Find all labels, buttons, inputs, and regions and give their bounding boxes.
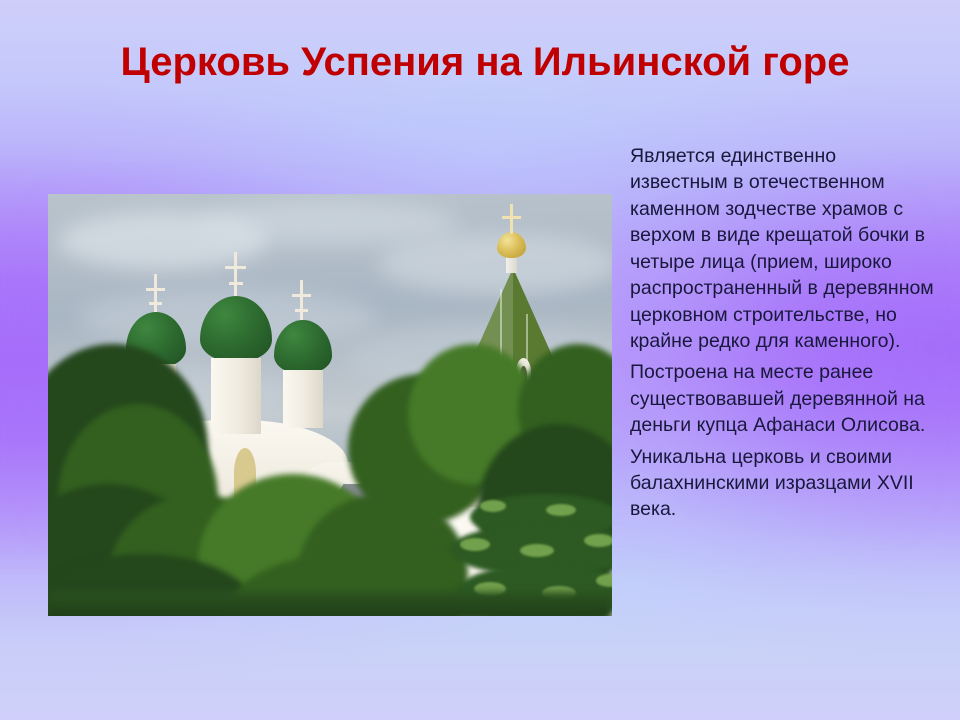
- body-paragraph-2: Построена на месте ранее существовавшей …: [630, 359, 936, 438]
- presentation-slide: Церковь Успения на Ильинской горе: [0, 0, 960, 720]
- slide-body-text: Является единственно известным в отечест…: [630, 143, 936, 528]
- cross-icon: [149, 302, 162, 305]
- conifer-highlight: [520, 544, 554, 557]
- church-photograph: [48, 194, 612, 616]
- ground-shadow: [48, 592, 612, 616]
- dome-drum: [283, 370, 323, 428]
- body-paragraph-3: Уникальна церковь и своими балахнинскими…: [630, 444, 936, 523]
- conifer-highlight: [460, 538, 490, 551]
- cross-icon: [234, 252, 237, 302]
- slide-title: Церковь Успения на Ильинской горе: [70, 34, 900, 91]
- body-paragraph-1: Является единственно известным в отечест…: [630, 143, 936, 354]
- cross-icon: [502, 216, 521, 219]
- gold-cupola: [497, 232, 526, 258]
- cross-icon: [292, 294, 311, 297]
- cross-icon: [510, 204, 513, 234]
- conifer-highlight: [584, 534, 612, 547]
- conifer-highlight: [546, 504, 576, 516]
- cross-icon: [229, 282, 243, 285]
- cross-icon: [225, 266, 246, 269]
- conifer-highlight: [480, 500, 506, 512]
- cross-icon: [146, 288, 165, 291]
- cross-icon: [295, 309, 308, 312]
- cloud: [198, 200, 458, 246]
- dome-drum: [211, 358, 261, 434]
